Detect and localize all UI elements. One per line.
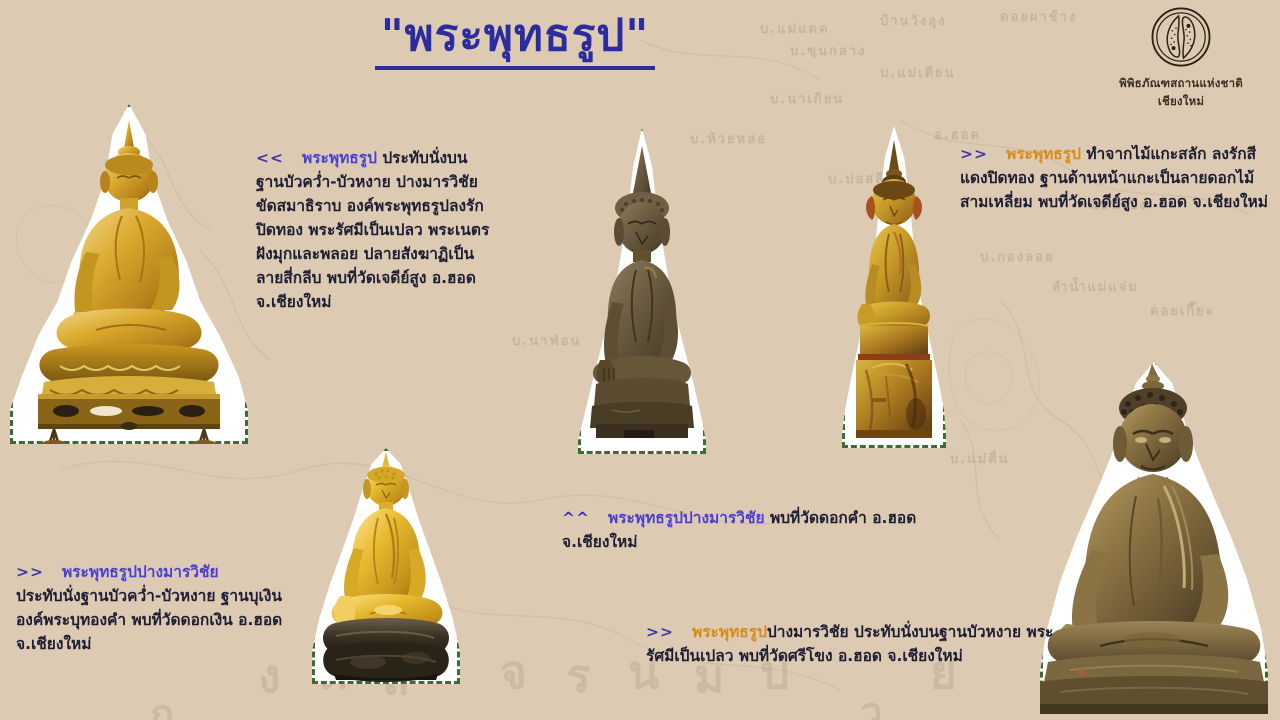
watermark-glyph: ร xyxy=(566,640,593,713)
watermark-glyph: ก xyxy=(150,682,176,720)
caption-middle: ^^พระพุทธรูปปางมารวิชัย พบที่วัดดอกคำ อ.… xyxy=(562,506,982,554)
statue-image-wood-gilded-buddha xyxy=(842,126,946,448)
watermark-label: ลำน้ำแม่แจ่ม xyxy=(1052,276,1139,297)
watermark-glyph: จ xyxy=(500,636,529,709)
caption-body: ประทับนั่งฐานบัวคว่ำ-บัวหงาย ฐานบุเงิน อ… xyxy=(16,587,282,653)
caption-marker: >> xyxy=(960,145,988,163)
caption-highlight: พระพุทธรูปปางมารวิชัย xyxy=(608,509,765,527)
caption-marker: >> xyxy=(646,623,674,641)
museum-name-label: พิพิธภัณฑสถานแห่งชาติ เชียงใหม่ xyxy=(1096,75,1266,111)
museum-fish-emblem-icon xyxy=(1150,6,1212,68)
figure-dark-bronze-buddha-tall-finial xyxy=(578,128,706,454)
statue-image-dark-bronze-buddha xyxy=(578,128,706,454)
slide-canvas: บ.แม่แดด บ้านวังลุง ดอยผาช้าง บ.ขุนกลาง … xyxy=(0,0,1280,720)
watermark-label: บ.แม่ตื่น xyxy=(950,448,1009,469)
watermark-label: บ.นาฟ่อน xyxy=(512,330,581,351)
statue-image-gilded-buddha xyxy=(10,104,248,444)
caption-marker: ^^ xyxy=(562,509,590,527)
caption-highlight: พระพุทธรูป xyxy=(1006,145,1081,163)
title-container: "พระพุทธรูป" xyxy=(0,12,1030,70)
caption-body: ประทับนั่งบนฐานบัวคว่ำ-บัวหงาย ปางมารวิช… xyxy=(256,149,489,311)
caption-right-bottom: >>พระพุทธรูปปางมารวิชัย ประทับนั่งบนฐานบ… xyxy=(646,620,1066,668)
caption-left-top: <<พระพุทธรูป ประทับนั่งบนฐานบัวคว่ำ-บัวห… xyxy=(256,146,494,314)
caption-highlight: พระพุทธรูป xyxy=(302,149,377,167)
figure-gilded-buddha-on-openwork-pedestal xyxy=(10,104,248,444)
figure-gold-buddha-on-silver-base xyxy=(312,448,460,684)
figure-large-bronze-buddha-maravijaya xyxy=(1040,362,1268,714)
statue-image-large-bronze-buddha xyxy=(1040,362,1268,714)
caption-marker: << xyxy=(256,149,284,167)
watermark-label: บ.นาเกียน xyxy=(770,88,844,109)
watermark-label: ดอยเกี๊ยะ xyxy=(1150,300,1215,321)
museum-logo-block: พิพิธภัณฑสถานแห่งชาติ เชียงใหม่ xyxy=(1096,6,1266,111)
caption-left-bottom: >>พระพุทธรูปปางมารวิชัยประทับนั่งฐานบัวค… xyxy=(16,560,306,656)
statue-image-gold-buddha-silver-base xyxy=(312,448,460,684)
watermark-label: บ.กองลอย xyxy=(980,246,1055,267)
figure-carved-wood-gilded-buddha xyxy=(842,126,946,448)
caption-right-top: >>พระพุทธรูป ทำจากไม้แกะสลัก ลงรักสีแดงป… xyxy=(960,142,1272,214)
page-title: "พระพุทธรูป" xyxy=(375,12,656,70)
caption-highlight: พระพุทธรูป xyxy=(692,623,767,641)
watermark-glyph: ว xyxy=(860,680,884,720)
caption-marker: >> xyxy=(16,563,44,581)
caption-highlight: พระพุทธรูปปางมารวิชัย xyxy=(62,563,219,581)
